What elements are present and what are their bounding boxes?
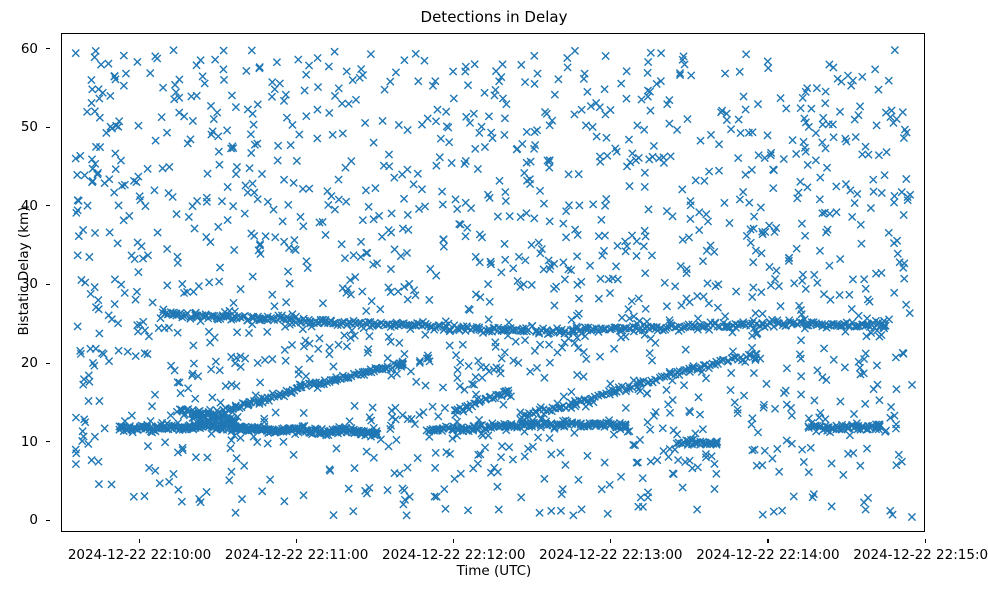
x-tick-mark [139,539,140,543]
y-tick-label: 0 [29,512,38,528]
x-tick-label: 2024-12-22 22:11:00 [225,547,368,563]
y-tick-mark [46,520,50,521]
x-tick-label: 2024-12-22 22:15:00 [853,547,988,563]
y-tick-mark [46,441,50,442]
x-tick-mark [453,539,454,543]
page-title: Detections in Delay [0,8,988,26]
y-tick-label-group: 0102030405060 [0,33,50,532]
y-tick-mark [46,48,50,49]
y-tick-label: 60 [21,41,38,57]
x-tick-label: 2024-12-22 22:14:00 [696,547,839,563]
x-tick-label: 2024-12-22 22:12:00 [382,547,525,563]
x-tick-mark [925,539,926,543]
x-tick-mark [610,539,611,543]
y-tick-label: 10 [21,434,38,450]
y-tick-mark [46,205,50,206]
x-tick-label-group: 2024-12-22 22:10:002024-12-22 22:11:0020… [61,539,925,559]
plot-area [61,33,925,532]
x-tick-label: 2024-12-22 22:10:00 [68,547,211,563]
x-tick-label: 2024-12-22 22:13:00 [539,547,682,563]
figure-canvas: Detections in Delay Bistatic Delay (km) … [0,0,988,590]
y-tick-mark [46,363,50,364]
x-axis-label: Time (UTC) [0,563,988,579]
y-tick-label: 40 [21,198,38,214]
y-tick-mark [46,284,50,285]
x-tick-mark [296,539,297,543]
scatter-layer [62,34,925,532]
y-tick-label: 50 [21,119,38,135]
y-tick-label: 30 [21,276,38,292]
y-tick-label: 20 [21,355,38,371]
y-tick-mark [46,127,50,128]
x-tick-mark [767,539,768,543]
